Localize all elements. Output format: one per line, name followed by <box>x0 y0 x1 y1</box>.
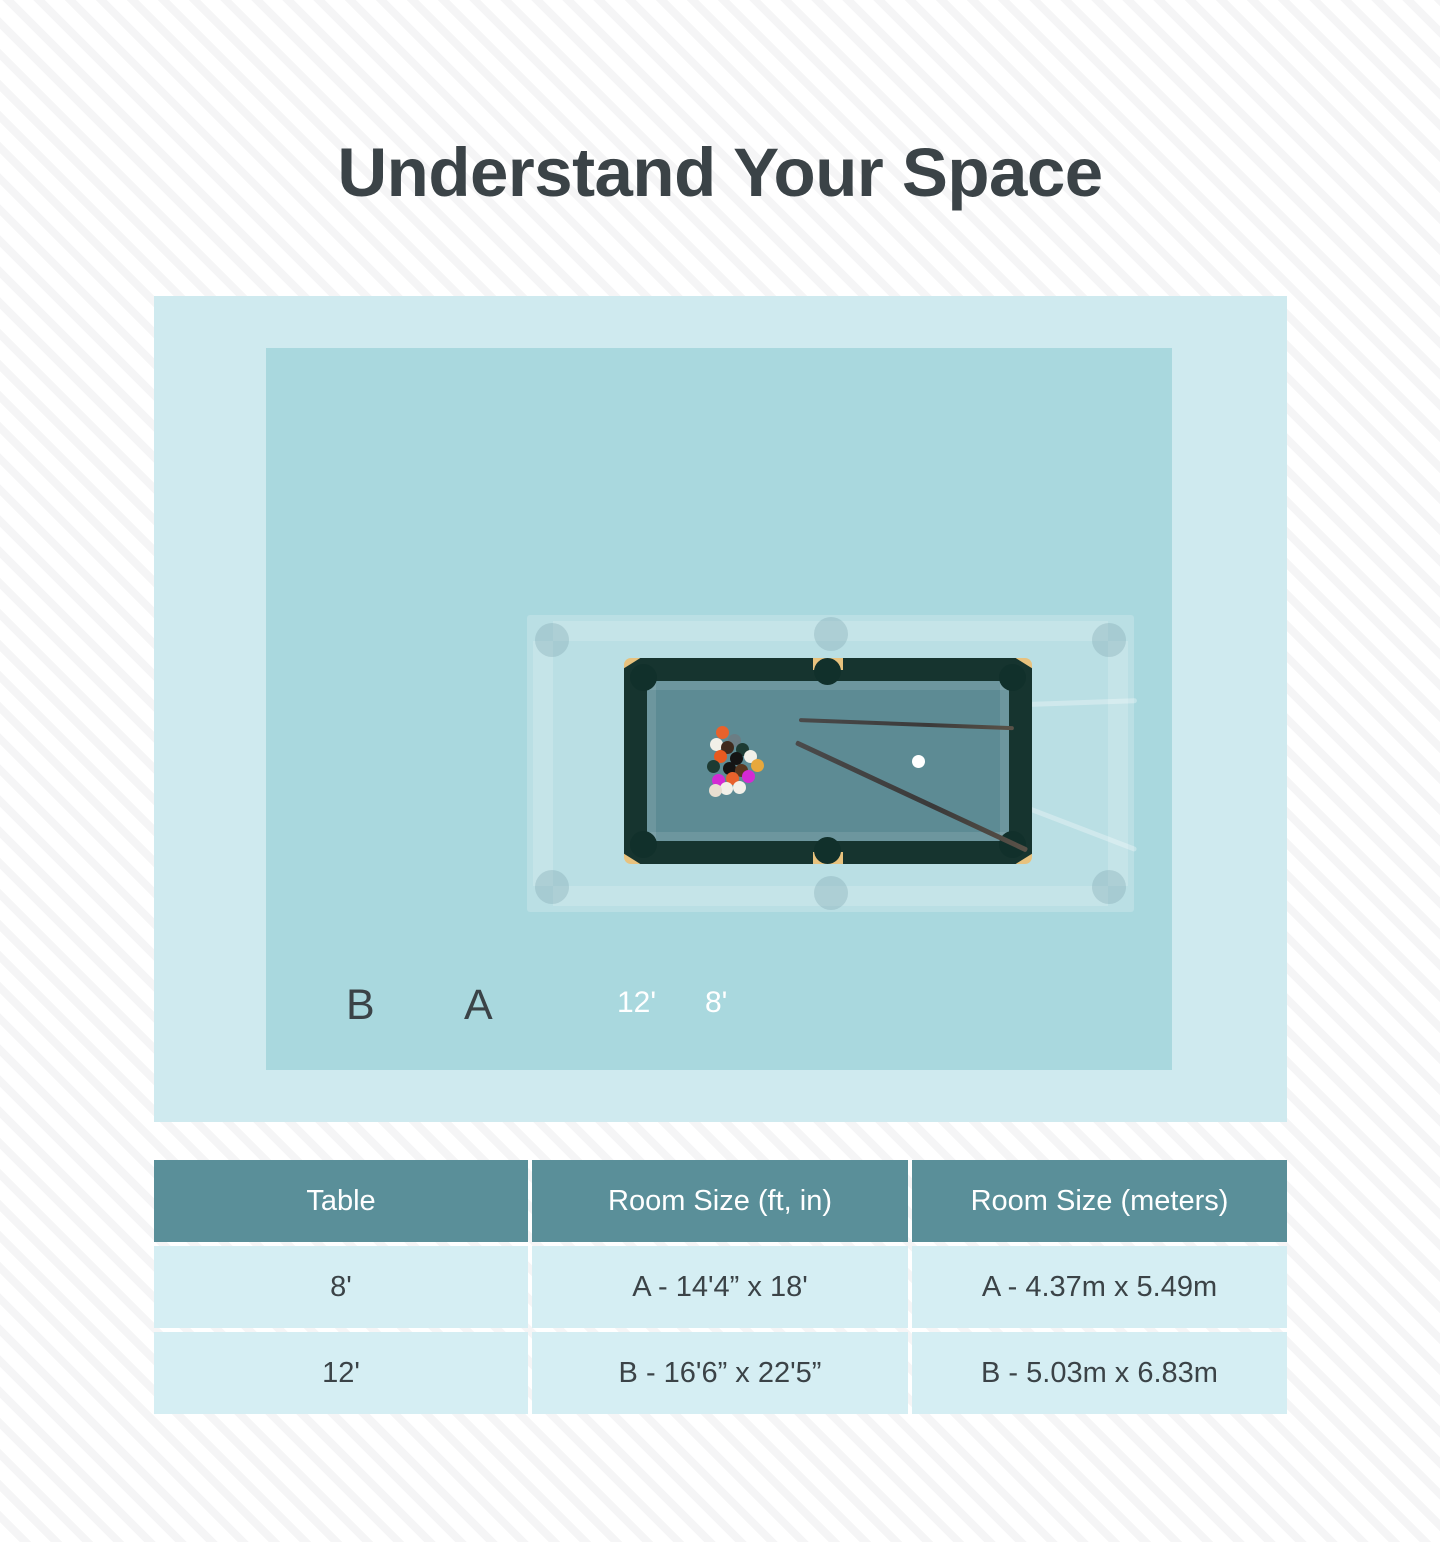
table-12ft-label: 12' <box>617 988 656 1018</box>
column-header-table: Table <box>154 1160 528 1242</box>
cell-room-size-ft: A - 14'4” x 18' <box>532 1246 908 1328</box>
cell-room-size-m: B - 5.03m x 6.83m <box>912 1332 1287 1414</box>
cell-room-size-ft: B - 16'6” x 22'5” <box>532 1332 908 1414</box>
ghost-pocket-bottom-middle <box>814 876 848 910</box>
ghost-pocket-bottom-right <box>1092 870 1126 904</box>
column-header-room-size-m: Room Size (meters) <box>912 1160 1287 1242</box>
billiard-ball <box>720 782 733 795</box>
pocket-top-right <box>999 664 1026 691</box>
ghost-pocket-bottom-left <box>535 870 569 904</box>
pocket-bottom-middle <box>814 837 841 864</box>
billiard-ball <box>751 759 764 772</box>
ghost-pocket-top-middle <box>814 617 848 651</box>
room-a-area <box>266 348 1172 1070</box>
cushion-right <box>1000 681 1009 841</box>
column-header-room-size-ft: Room Size (ft, in) <box>532 1160 908 1242</box>
table-header-row: Table Room Size (ft, in) Room Size (mete… <box>154 1160 1287 1242</box>
billiard-ball <box>742 770 755 783</box>
pocket-top-left <box>630 664 657 691</box>
cell-table-size: 8' <box>154 1246 528 1328</box>
billiard-ball <box>716 726 729 739</box>
cushion-left <box>647 681 656 841</box>
cell-table-size: 12' <box>154 1332 528 1414</box>
page-title: Understand Your Space <box>0 138 1440 207</box>
pool-table-8ft <box>624 658 1032 864</box>
room-diagram: B A 12' 8' <box>154 296 1287 1122</box>
billiard-ball <box>733 781 746 794</box>
billiard-ball <box>709 784 722 797</box>
pocket-bottom-left <box>630 831 657 858</box>
cue-ball <box>912 755 925 768</box>
room-a-label: A <box>464 984 493 1027</box>
ghost-rail-left <box>533 641 553 886</box>
billiard-ball <box>707 760 720 773</box>
ghost-rail-right <box>1108 641 1128 886</box>
table-row: 8' A - 14'4” x 18' A - 4.37m x 5.49m <box>154 1246 1287 1328</box>
pocket-top-middle <box>814 658 841 685</box>
ghost-pocket-top-left <box>535 623 569 657</box>
room-size-table: Table Room Size (ft, in) Room Size (mete… <box>154 1160 1287 1414</box>
cell-room-size-m: A - 4.37m x 5.49m <box>912 1246 1287 1328</box>
room-b-label: B <box>346 984 375 1027</box>
table-8ft-label: 8' <box>705 988 727 1018</box>
ghost-pocket-top-right <box>1092 623 1126 657</box>
table-row: 12' B - 16'6” x 22'5” B - 5.03m x 6.83m <box>154 1332 1287 1414</box>
billiard-ball-rack <box>706 726 770 798</box>
